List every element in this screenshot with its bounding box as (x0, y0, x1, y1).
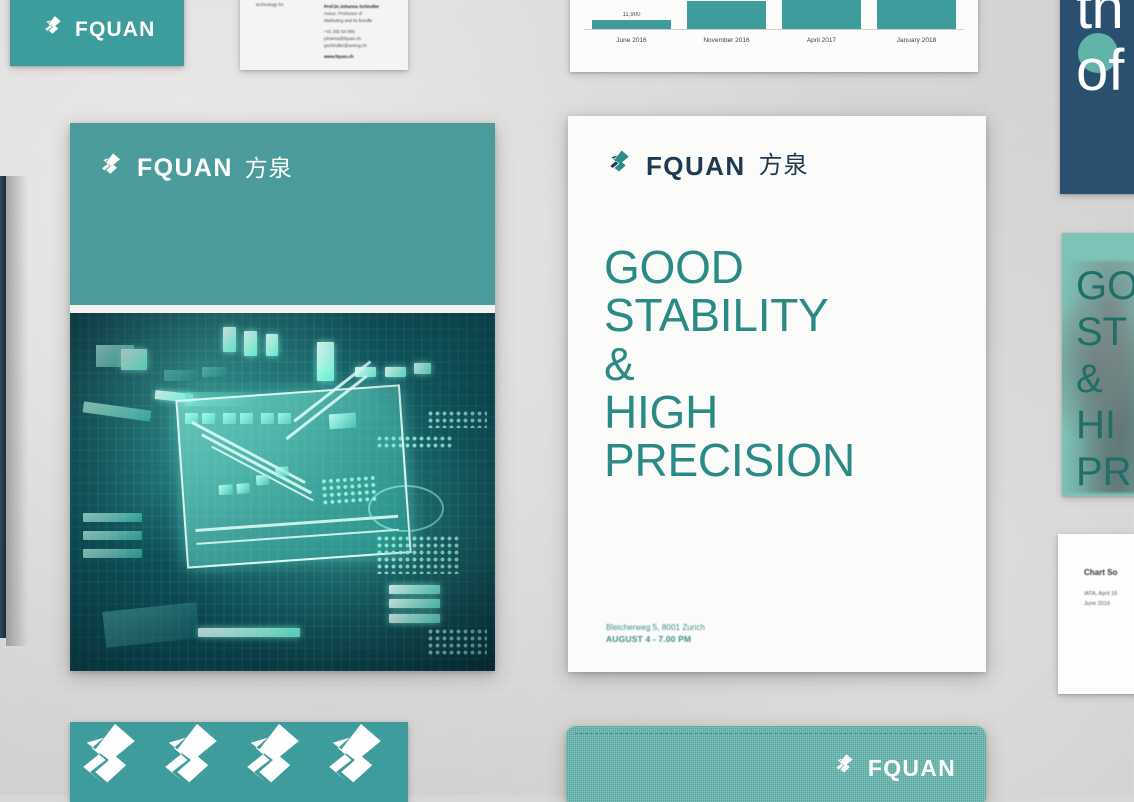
contact-role-2: Marketing and its Bundle (324, 18, 398, 25)
fquan-chevron-mark-icon (312, 722, 398, 802)
wordmark-text: FQUAN (646, 153, 746, 179)
navy-text-line-1: th (1076, 0, 1123, 35)
contact-detail-1: +41 282 54 095 (324, 29, 398, 36)
fquan-chevron-mark-icon (70, 722, 152, 802)
headline-line: GOOD (604, 243, 968, 291)
headline-line: HI (1076, 402, 1134, 448)
contact-detail-3: gschindler@unireg.ch (324, 43, 398, 50)
contact-detail-2: johanna@fquan.ch (324, 36, 398, 43)
teal-fabric-pouch: FQUAN (566, 726, 986, 802)
wordmark-text: FQUAN (868, 757, 956, 780)
chart-axis-line (584, 29, 964, 30)
x-axis-label: November 2016 (687, 37, 767, 44)
bar (782, 0, 862, 30)
bar-value-label: 11,900 (623, 12, 641, 18)
bar-item (782, 0, 862, 30)
poster-address: Bleicherweg 5, 8001 Zurich (606, 623, 705, 632)
brochure-photo-circuit-board (70, 313, 495, 671)
teal-poster-variant: GOST&HIPR (1062, 233, 1134, 496)
navy-edge-card (0, 176, 6, 638)
bar-chart-sheet: 11,90034,000 June 2016November 2016April… (570, 0, 978, 72)
wordmark-text: FQUAN (137, 156, 233, 181)
x-axis-label: January 2018 (877, 37, 957, 44)
navy-text-line-2: of (1076, 44, 1124, 97)
contact-name: Prof.Dr.Johanna Schindler (324, 4, 379, 9)
card-contact-block: Prof.Dr.Johanna Schindler Assoc. Profess… (324, 4, 398, 61)
x-axis-label: April 2017 (782, 37, 862, 44)
headline-line: GO (1076, 263, 1134, 309)
card-heading: technology for (256, 2, 316, 9)
logo-lockup-white-cjk: FQUAN 方泉 (96, 151, 293, 186)
fquan-chevron-mark-icon (604, 148, 635, 184)
bar-item: 34,000 (687, 0, 767, 30)
logo-lockup-white: FQUAN (40, 14, 155, 45)
headline-line: HIGH (604, 388, 968, 436)
event-poster: FQUAN 方泉 GOODSTABILITY&HIGHPRECISION Ble… (568, 116, 986, 672)
headline-line: & (604, 340, 968, 388)
source-body: IATA, April 16 June 2016 (1084, 590, 1117, 609)
chart-x-axis-labels: June 2016November 2016April 2017January … (584, 37, 964, 44)
fquan-chevron-mark-icon (40, 14, 66, 45)
bar-item (877, 0, 957, 30)
bar-chart: 11,90034,000 June 2016November 2016April… (584, 0, 964, 48)
contact-role-1: Assoc. Professor of (324, 11, 398, 18)
wordmark-text: FQUAN (75, 19, 155, 40)
logo-lockup-white: FQUAN (831, 752, 956, 784)
fquan-chevron-mark-icon (831, 752, 858, 784)
logo-lockup-dark: FQUAN 方泉 (604, 148, 809, 184)
fquan-chevron-mark-icon (96, 151, 126, 186)
brochure-header: FQUAN 方泉 (70, 123, 495, 305)
navy-type-card: th of (1060, 0, 1134, 194)
poster-footer: Bleicherweg 5, 8001 Zurich AUGUST 4 - 7.… (606, 623, 705, 644)
cjk-name-text: 方泉 (759, 154, 809, 178)
bar (877, 0, 957, 30)
photo-vignette (70, 313, 495, 671)
x-axis-label: June 2016 (592, 37, 672, 44)
stitch-line (575, 733, 977, 734)
fquan-chevron-mark-icon (230, 722, 316, 802)
edge-sheen (0, 176, 6, 638)
brochure-cover: FQUAN 方泉 (70, 123, 495, 671)
pattern-motif-row (70, 722, 408, 802)
pattern-card (70, 722, 408, 802)
source-title: Chart So (1084, 568, 1117, 577)
headline-line: & (1076, 356, 1134, 402)
chart-source-sheet: Chart So IATA, April 16 June 2016 (1058, 534, 1134, 694)
fquan-chevron-mark-icon (148, 722, 234, 802)
source-line-2: June 2016 (1084, 600, 1117, 610)
headline-line: PR (1076, 449, 1134, 495)
teal-business-card: FQUAN (10, 0, 184, 66)
headline-line: ST (1076, 309, 1134, 355)
fquan-chevron-mark-icon (394, 722, 408, 802)
bar-item: 11,900 (592, 0, 672, 30)
white-business-card: technology for Prof.Dr.Johanna Schindler… (240, 0, 408, 70)
headline-line: PRECISION (604, 436, 968, 484)
bar (687, 1, 767, 30)
source-line-1: IATA, April 16 (1084, 590, 1117, 600)
bar-series: 11,90034,000 (584, 0, 964, 30)
cjk-name-text: 方泉 (245, 157, 293, 180)
headline-line: STABILITY (604, 291, 968, 339)
poster-headline: GOODSTABILITY&HIGHPRECISION (604, 243, 968, 484)
contact-website: www.fquan.ch (324, 54, 354, 59)
poster-datetime: AUGUST 4 - 7.00 PM (606, 634, 705, 644)
teal-poster-headline: GOST&HIPR (1076, 263, 1134, 495)
